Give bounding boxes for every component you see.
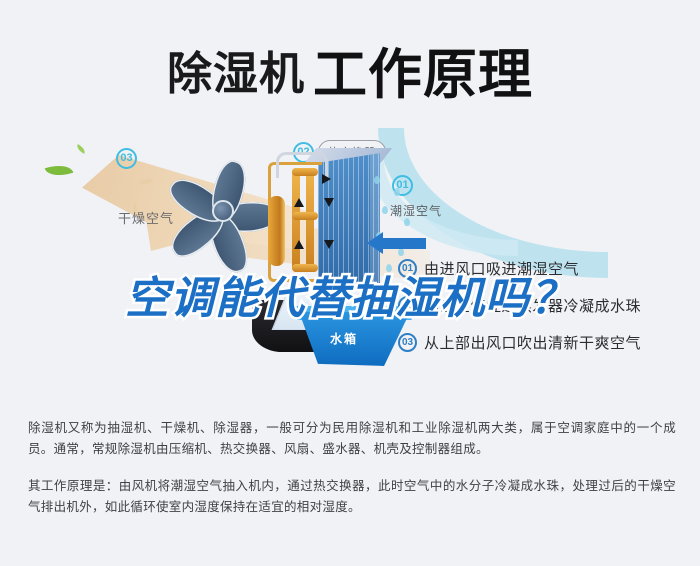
intake-arrow-icon	[382, 238, 426, 249]
dehumidifier-unit: 水箱	[262, 140, 412, 380]
fan-hub	[212, 200, 234, 222]
dry-air-badge: 03	[116, 148, 137, 169]
flow-arrow-right-icon	[322, 174, 331, 184]
body-paragraph-1: 除湿机又称为抽湿机、干燥机、除湿器，一般可分为民用除湿机和工业除湿机两大类，属于…	[28, 418, 676, 460]
body-copy: 除湿机又称为抽湿机、干燥机、除湿器，一般可分为民用除湿机和工业除湿机两大类，属于…	[28, 418, 676, 518]
page-title: 除湿机工作原理	[0, 30, 700, 109]
coil-pipe	[306, 168, 314, 272]
dry-air-label: 干燥空气	[118, 208, 174, 227]
compressor-cylinder	[268, 196, 285, 266]
body-paragraph-2: 其工作原理是：由风机将潮湿空气抽入机内，通过热交换器，此时空气中的水分子冷凝成水…	[28, 476, 676, 518]
flow-arrow-down-icon	[324, 240, 334, 249]
page-title-part2: 工作原理	[313, 45, 533, 105]
legend-item: 03 从上部出风口吹出清新干爽空气	[398, 332, 688, 353]
flow-arrow-down-icon	[324, 198, 334, 207]
flow-arrow-up-icon	[294, 240, 304, 249]
leaf-icon	[75, 144, 87, 154]
legend-label: 从上部出风口吹出清新干爽空气	[424, 332, 641, 353]
page-root: 除湿机工作原理 干燥空气 03 潮湿空气 01 02 热交换器	[0, 0, 700, 566]
suction-tube	[276, 152, 328, 178]
legend-number: 03	[398, 333, 417, 352]
water-tank-label: 水箱	[330, 330, 358, 347]
flow-arrow-up-icon	[294, 198, 304, 207]
overlay-headline: 空调能代替抽湿机吗？	[0, 262, 700, 326]
leaf-icon	[45, 160, 74, 180]
coil-pipe	[292, 212, 318, 220]
page-title-part1: 除湿机	[167, 48, 305, 99]
coil-pipe	[292, 168, 300, 272]
